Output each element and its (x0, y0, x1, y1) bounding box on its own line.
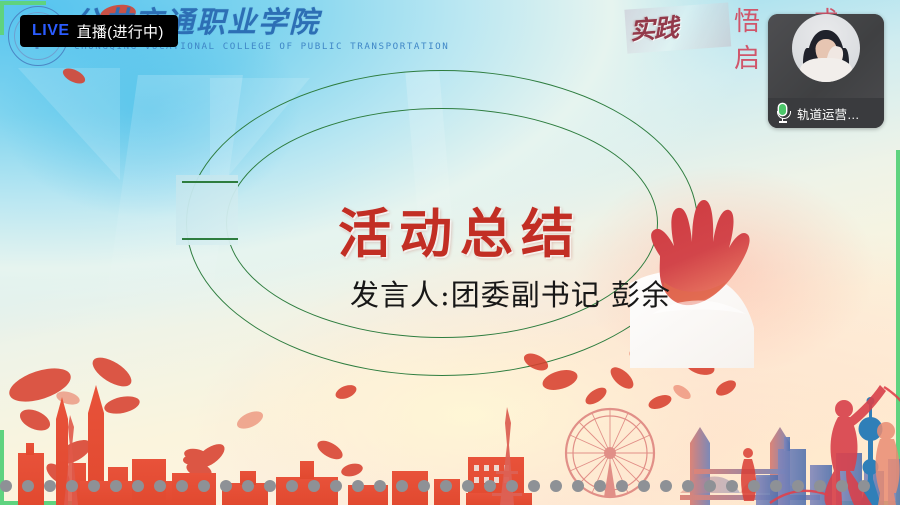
live-status-text: 直播(进行中) (77, 21, 164, 42)
footer-dot (440, 480, 452, 492)
footer-dot (0, 480, 12, 492)
footer-dot (176, 480, 188, 492)
footer-dot (264, 480, 276, 492)
footer-dot (638, 480, 650, 492)
participant-name: 轨道运营… (797, 104, 860, 123)
footer-dot (528, 480, 540, 492)
footer-dot (396, 480, 408, 492)
footer-dot (704, 480, 716, 492)
footer-dot (352, 480, 364, 492)
footer-dot (572, 480, 584, 492)
live-status-badge: LIVE 直播(进行中) (20, 15, 178, 47)
footer-dot (484, 480, 496, 492)
footer-dot (308, 480, 320, 492)
footer-dot (660, 480, 672, 492)
footer-dot (550, 480, 562, 492)
footer-dot (726, 480, 738, 492)
footer-dot (814, 480, 826, 492)
stream-viewer: 公共交通职业学院 CHONGQING VOCATIONAL COLLEGE OF… (0, 0, 900, 505)
footer-dot (132, 480, 144, 492)
decor-ring-gap (176, 175, 238, 245)
footer-dot (418, 480, 430, 492)
footer-dot (286, 480, 298, 492)
footer-dot (792, 480, 804, 492)
footer-dot (220, 480, 232, 492)
footer-dot (616, 480, 628, 492)
footer-dot (858, 480, 870, 492)
decor-ring-cap-top (182, 181, 238, 183)
footer-dot (198, 480, 210, 492)
avatar (792, 14, 860, 82)
footer-dot (374, 480, 386, 492)
participant-info-bar: 轨道运营… (768, 98, 884, 128)
footer-dot (462, 480, 474, 492)
calligraphy-emblem: 实践 (629, 5, 730, 58)
slide-frame-left-upper (0, 1, 4, 35)
slide-subtitle: 发言人:团委副书记 彭余 (350, 272, 671, 314)
microphone-unmuted-icon[interactable] (776, 104, 789, 123)
dotted-footer-row (0, 480, 900, 494)
footer-dot (88, 480, 100, 492)
participant-video-tile[interactable]: 轨道运营… (768, 14, 884, 128)
footer-dot (682, 480, 694, 492)
live-label: LIVE (32, 22, 70, 40)
footer-dot (748, 480, 760, 492)
footer-dot (330, 480, 342, 492)
footer-dot (44, 480, 56, 492)
footer-dot (110, 480, 122, 492)
footer-dot (154, 480, 166, 492)
footer-dot (594, 480, 606, 492)
avatar-body (800, 58, 852, 82)
footer-dot (22, 480, 34, 492)
footer-dot (66, 480, 78, 492)
footer-dot (770, 480, 782, 492)
footer-dot (242, 480, 254, 492)
presentation-slide: 公共交通职业学院 CHONGQING VOCATIONAL COLLEGE OF… (0, 0, 900, 505)
footer-dot (836, 480, 848, 492)
footer-dot (506, 480, 518, 492)
decor-ring-cap-bottom (182, 238, 238, 240)
slide-title: 活动总结 (338, 192, 582, 268)
